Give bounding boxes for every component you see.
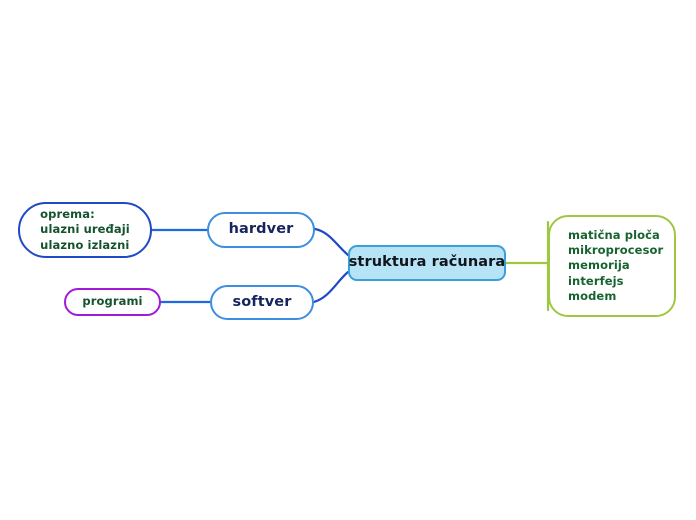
node-hardver[interactable]: hardver: [207, 212, 315, 248]
mindmap-canvas: oprema: ulazni uređaji ulazno izlazni pr…: [0, 0, 696, 520]
edge-central-to-hardver: [315, 229, 348, 255]
node-programi[interactable]: programi: [64, 288, 161, 316]
node-komponente[interactable]: matična ploča mikroprocesor memorija int…: [548, 215, 676, 317]
node-central-label: struktura računara: [349, 253, 506, 272]
node-komponente-label: matična ploča mikroprocesor memorija int…: [568, 228, 663, 304]
node-softver[interactable]: softver: [210, 285, 314, 320]
node-programi-label: programi: [82, 294, 142, 309]
node-oprema[interactable]: oprema: ulazni uređaji ulazno izlazni: [18, 202, 152, 258]
node-oprema-label: oprema: ulazni uređaji ulazno izlazni: [40, 207, 130, 253]
edge-central-to-softver: [314, 272, 348, 302]
node-softver-label: softver: [233, 293, 292, 312]
node-hardver-label: hardver: [229, 220, 294, 239]
node-central-struktura-racunara[interactable]: struktura računara: [348, 245, 506, 281]
